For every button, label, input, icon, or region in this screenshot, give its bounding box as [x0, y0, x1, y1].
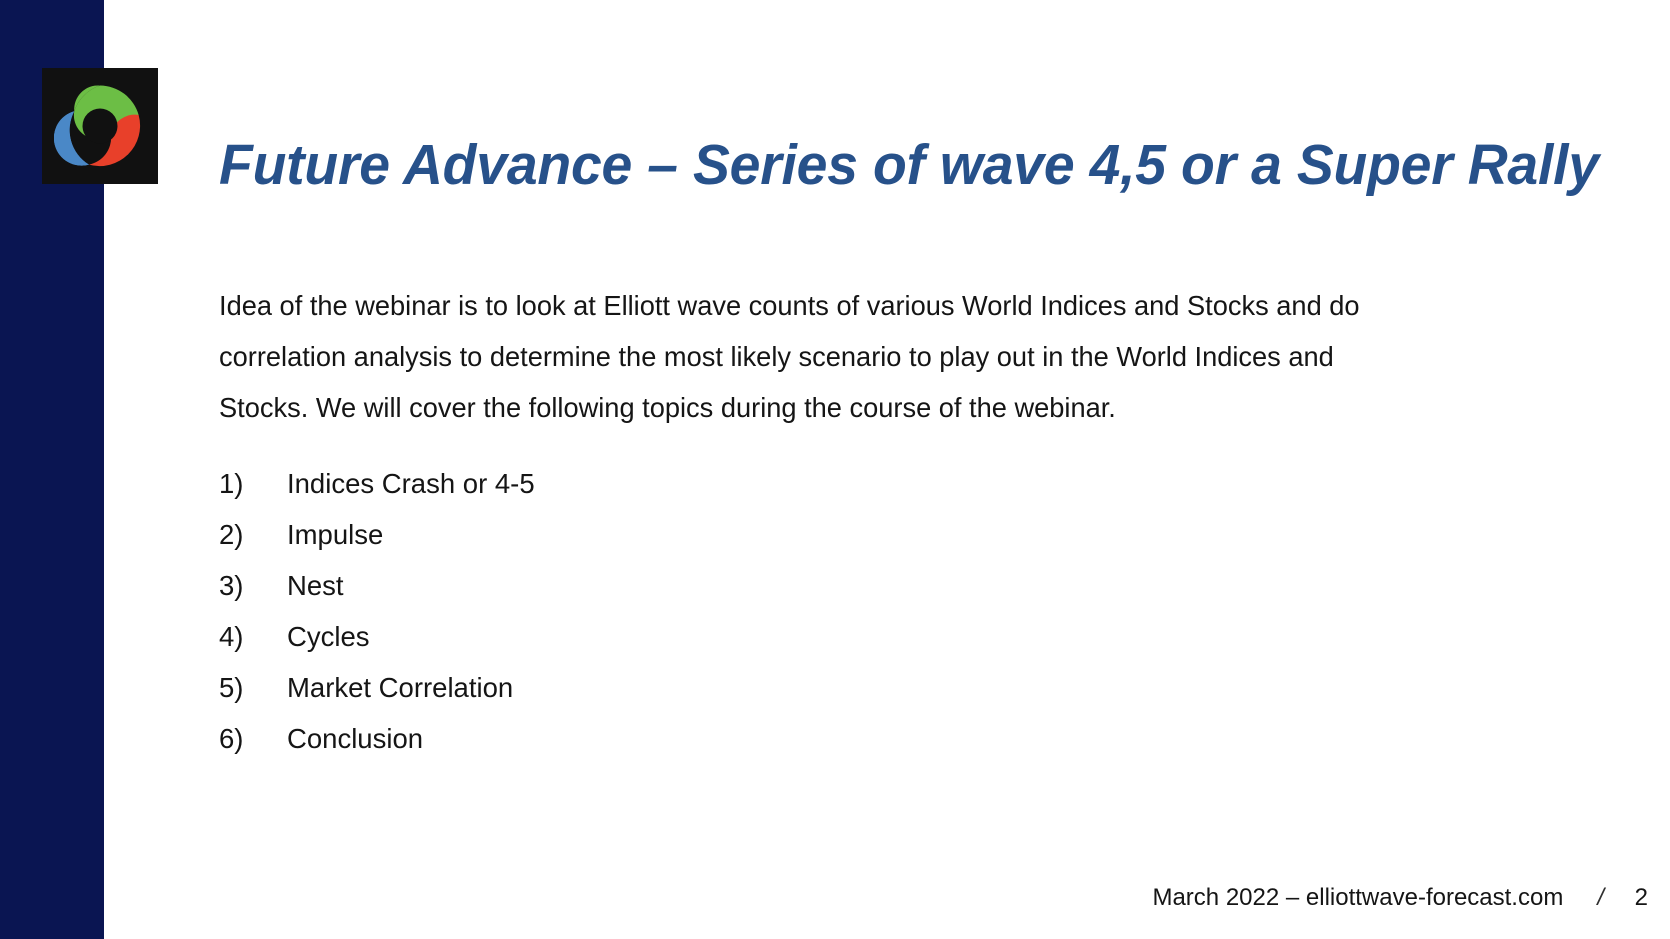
slide-canvas: Future Advance – Series of wave 4,5 or a…	[0, 0, 1670, 939]
list-item-label: Indices Crash or 4-5	[287, 458, 1119, 509]
list-item: 5) Market Correlation	[219, 662, 1119, 713]
list-item: 2) Impulse	[219, 509, 1119, 560]
list-item: 6) Conclusion	[219, 713, 1119, 764]
list-item-marker: 1)	[219, 458, 287, 509]
list-item-label: Market Correlation	[287, 662, 1119, 713]
list-item-label: Cycles	[287, 611, 1119, 662]
page-title: Future Advance – Series of wave 4,5 or a…	[219, 136, 1577, 196]
list-item-label: Conclusion	[287, 713, 1119, 764]
swirl-logo-icon	[54, 80, 146, 172]
page-number: 2	[1634, 883, 1648, 913]
list-item-label: Impulse	[287, 509, 1119, 560]
list-item: 1) Indices Crash or 4-5	[219, 458, 1119, 509]
list-item: 3) Nest	[219, 560, 1119, 611]
slide-footer: March 2022 – elliottwave-forecast.com / …	[1152, 883, 1648, 913]
list-item-marker: 6)	[219, 713, 287, 764]
list-item-marker: 5)	[219, 662, 287, 713]
list-item: 4) Cycles	[219, 611, 1119, 662]
company-logo	[42, 68, 158, 184]
list-item-marker: 2)	[219, 509, 287, 560]
footer-separator: /	[1597, 883, 1604, 913]
footer-credit: March 2022 – elliottwave-forecast.com	[1152, 883, 1563, 913]
list-item-label: Nest	[287, 560, 1119, 611]
topic-list: 1) Indices Crash or 4-5 2) Impulse 3) Ne…	[219, 458, 1119, 764]
intro-paragraph: Idea of the webinar is to look at Elliot…	[219, 280, 1412, 433]
list-item-marker: 3)	[219, 560, 287, 611]
list-item-marker: 4)	[219, 611, 287, 662]
